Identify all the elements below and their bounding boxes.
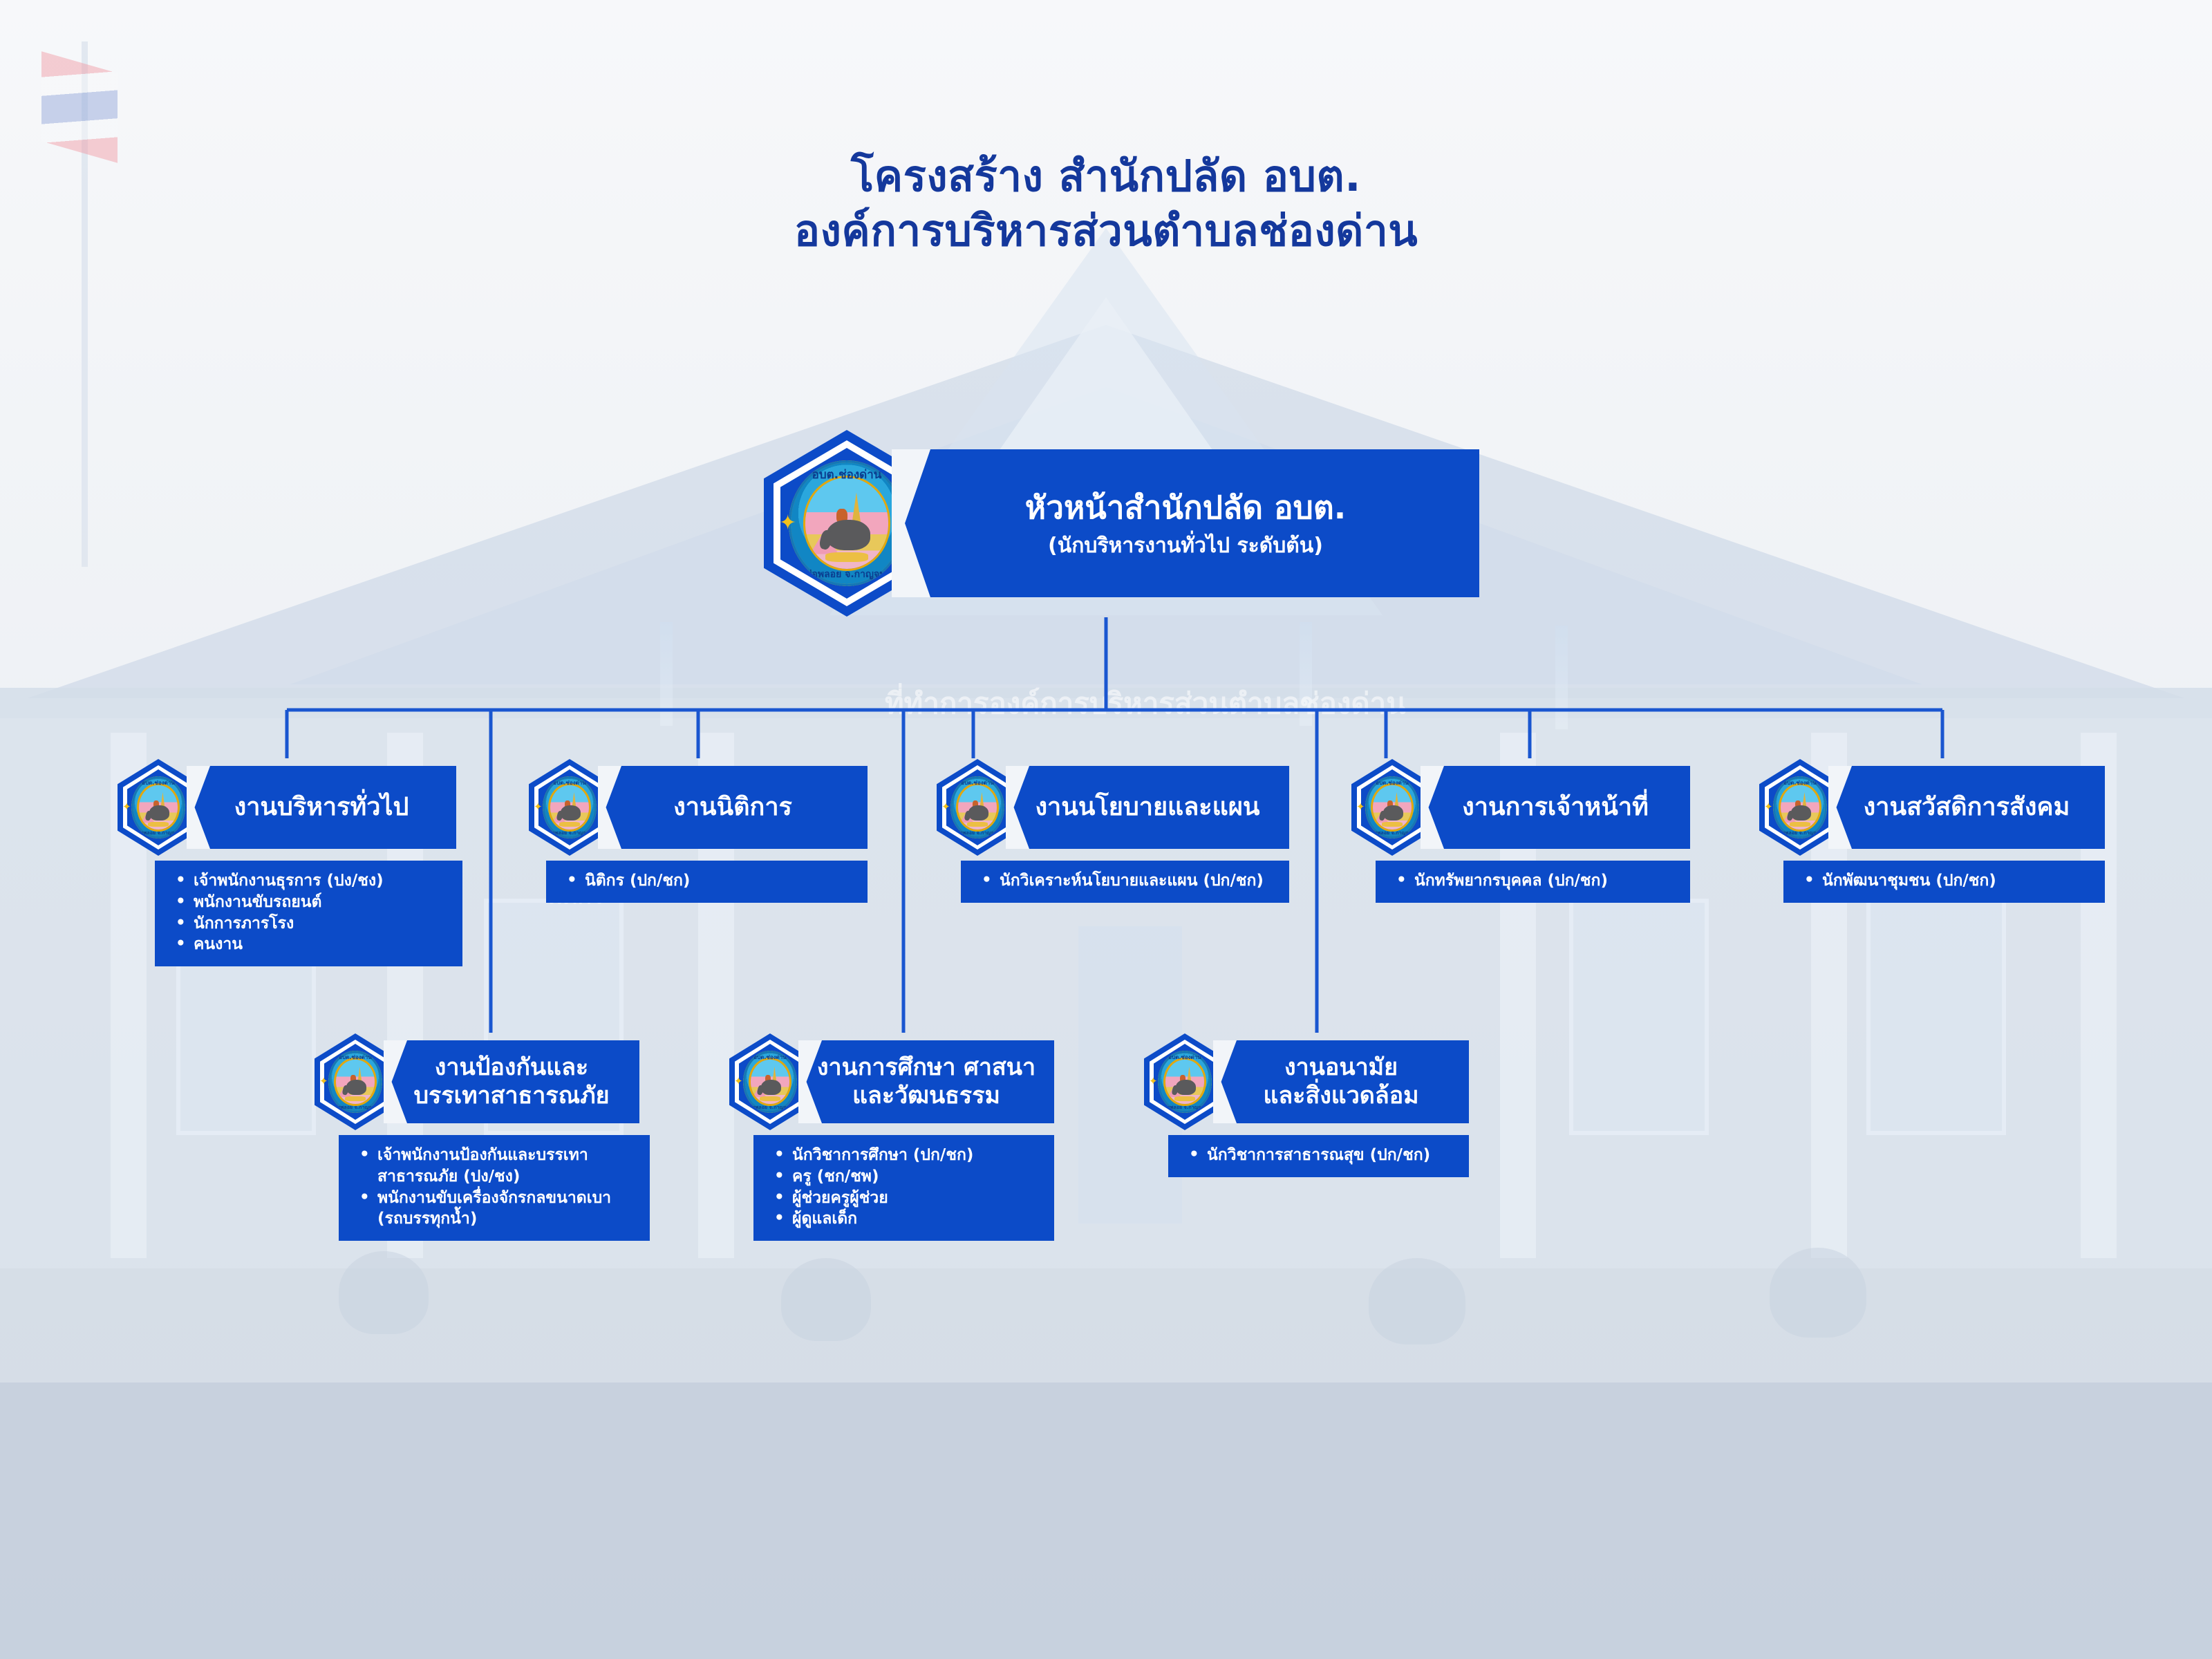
org-chart: โครงสร้าง สำนักปลัด อบต. องค์การบริหารส่… bbox=[0, 0, 2212, 1659]
emblem-top-text: อบต.ช่องด่าน bbox=[131, 778, 185, 787]
emblem-top-text: อบต.ช่องด่าน bbox=[950, 778, 1004, 787]
emblem-bottom-text: อ.บ่อพลอย จ.กาญจนบุรี bbox=[328, 1104, 382, 1112]
emblem-top-text: อบต.ช่องด่าน bbox=[789, 465, 905, 484]
star-icon: ✦ bbox=[534, 802, 543, 812]
duty-item: พนักงานขับรถยนต์ bbox=[194, 892, 450, 913]
emblem-bottom-text: อ.บ่อพลอย จ.กาญจนบุรี bbox=[131, 829, 185, 837]
duty-item: เจ้าพนักงานป้องกันและบรรเทาสาธารณภัย (ปง… bbox=[377, 1145, 637, 1188]
head-of-office-plate[interactable]: หัวหน้าสำนักปลัด อบต. (นักบริหารงานทั่วไ… bbox=[892, 449, 1479, 597]
duty-item: นักวิชาการสาธารณสุข (ปก/ชก) bbox=[1207, 1145, 1456, 1166]
education-title-line1: งานการศึกษา ศาสนา bbox=[817, 1053, 1035, 1082]
health-environment-title-line2: และสิ่งแวดล้อม bbox=[1263, 1082, 1418, 1110]
emblem-bottom-text: อ.บ่อพลอย จ.กาญจนบุรี bbox=[1158, 1104, 1212, 1112]
emblem-bottom-text: อ.บ่อพลอย จ.กาญจนบุรี bbox=[1365, 829, 1419, 837]
general-administration-duties: เจ้าพนักงานธุรการ (ปง/ชง) พนักงานขับรถยน… bbox=[155, 861, 462, 966]
emblem-bottom-text: อ.บ่อพลอย จ.กาญจนบุรี bbox=[1773, 829, 1827, 837]
duty-item: ครู (ชก/ชพ) bbox=[792, 1166, 1042, 1188]
policy-and-planning-duties: นักวิเคราะห์นโยบายและแผน (ปก/ชก) bbox=[961, 861, 1289, 903]
duty-item: ผู้ดูแลเด็ก bbox=[792, 1208, 1042, 1230]
emblem-bottom-text: อ.บ่อพลอย จ.กาญจนบุรี bbox=[950, 829, 1004, 837]
star-icon: ✦ bbox=[734, 1076, 743, 1087]
health-environment-title-line1: งานอนามัย bbox=[1284, 1053, 1398, 1082]
emblem-top-text: อบต.ช่องด่าน bbox=[743, 1053, 797, 1062]
head-of-office-title: หัวหน้าสำนักปลัด อบต. bbox=[1025, 488, 1346, 527]
disaster-prevention-duties: เจ้าพนักงานป้องกันและบรรเทาสาธารณภัย (ปง… bbox=[339, 1135, 650, 1241]
personnel-affairs-duties: นักทรัพยากรบุคคล (ปก/ชก) bbox=[1376, 861, 1690, 903]
policy-and-planning-title: งานนโยบายและแผน bbox=[1035, 792, 1259, 823]
health-environment-duties: นักวิชาการสาธารณสุข (ปก/ชก) bbox=[1168, 1135, 1469, 1177]
duty-item: นักการภารโรง bbox=[194, 913, 450, 935]
education-duties: นักวิชาการศึกษา (ปก/ชก) ครู (ชก/ชพ) ผู้ช… bbox=[753, 1135, 1054, 1241]
emblem-top-text: อบต.ช่องด่าน bbox=[1365, 778, 1419, 787]
emblem-bottom-text: อ.บ่อพลอย จ.กาญจนบุรี bbox=[789, 567, 905, 582]
duty-item: พนักงานขับเครื่องจักรกลขนาดเบา (รถบรรทุก… bbox=[377, 1188, 637, 1230]
policy-and-planning-plate[interactable]: งานนโยบายและแผน bbox=[1006, 766, 1289, 849]
legal-affairs-duties: นิติกร (ปก/ชก) bbox=[546, 861, 868, 903]
social-welfare-duties: นักพัฒนาชุมชน (ปก/ชก) bbox=[1783, 861, 2105, 903]
legal-affairs-title: งานนิติการ bbox=[673, 792, 792, 823]
personnel-affairs-title: งานการเจ้าหน้าที่ bbox=[1462, 792, 1649, 823]
emblem-top-text: อบต.ช่องด่าน bbox=[543, 778, 597, 787]
duty-item: เจ้าพนักงานธุรการ (ปง/ชง) bbox=[194, 870, 450, 892]
emblem-top-text: อบต.ช่องด่าน bbox=[1158, 1053, 1212, 1062]
disaster-prevention-title-line2: บรรเทาสาธารณภัย bbox=[413, 1082, 609, 1110]
head-of-office-subtitle: (นักบริหารงานทั่วไป ระดับต้น) bbox=[1048, 534, 1323, 559]
star-icon: ✦ bbox=[1356, 802, 1365, 812]
general-administration-title: งานบริหารทั่วไป bbox=[234, 792, 409, 823]
disaster-prevention-title-line1: งานป้องกันและ bbox=[435, 1053, 588, 1082]
duty-item: นักพัฒนาชุมชน (ปก/ชก) bbox=[1822, 870, 2092, 892]
star-icon: ✦ bbox=[1764, 802, 1773, 812]
social-welfare-plate[interactable]: งานสวัสดิการสังคม bbox=[1828, 766, 2105, 849]
legal-affairs-plate[interactable]: งานนิติการ bbox=[598, 766, 868, 849]
health-environment-plate[interactable]: งานอนามัย และสิ่งแวดล้อม bbox=[1213, 1040, 1469, 1123]
star-icon: ✦ bbox=[319, 1076, 328, 1087]
education-plate[interactable]: งานการศึกษา ศาสนา และวัฒนธรรม bbox=[798, 1040, 1054, 1123]
star-icon: ✦ bbox=[1149, 1076, 1158, 1087]
general-administration-plate[interactable]: งานบริหารทั่วไป bbox=[187, 766, 456, 849]
duty-item: คนงาน bbox=[194, 934, 450, 955]
star-icon: ✦ bbox=[941, 802, 950, 812]
emblem-bottom-text: อ.บ่อพลอย จ.กาญจนบุรี bbox=[743, 1104, 797, 1112]
star-icon: ✦ bbox=[122, 802, 131, 812]
star-icon: ✦ bbox=[779, 513, 796, 534]
duty-item: นักทรัพยากรบุคคล (ปก/ชก) bbox=[1414, 870, 1678, 892]
duty-item: นิติกร (ปก/ชก) bbox=[585, 870, 855, 892]
emblem-bottom-text: อ.บ่อพลอย จ.กาญจนบุรี bbox=[543, 829, 597, 837]
emblem-top-text: อบต.ช่องด่าน bbox=[1773, 778, 1827, 787]
emblem-top-text: อบต.ช่องด่าน bbox=[328, 1053, 382, 1062]
duty-item: นักวิชาการศึกษา (ปก/ชก) bbox=[792, 1145, 1042, 1166]
education-title-line2: และวัฒนธรรม bbox=[852, 1082, 1000, 1110]
personnel-affairs-plate[interactable]: งานการเจ้าหน้าที่ bbox=[1421, 766, 1690, 849]
social-welfare-title: งานสวัสดิการสังคม bbox=[1864, 792, 2070, 823]
disaster-prevention-plate[interactable]: งานป้องกันและ บรรเทาสาธารณภัย bbox=[384, 1040, 639, 1123]
duty-item: ผู้ช่วยครูผู้ช่วย bbox=[792, 1188, 1042, 1209]
duty-item: นักวิเคราะห์นโยบายและแผน (ปก/ชก) bbox=[1000, 870, 1277, 892]
